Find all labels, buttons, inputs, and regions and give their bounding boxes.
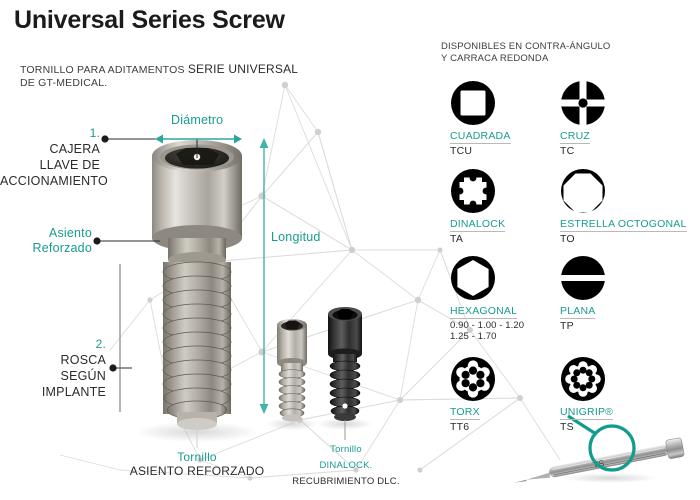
main-screw-caption: Tornillo ASIENTO REFORZADO — [122, 450, 272, 478]
driver-plana-code: TP — [560, 320, 574, 332]
leader-seat — [93, 237, 160, 244]
driver-hexagonal-name: HEXAGONAL — [450, 305, 517, 319]
callout-2-line2: SEGÚN — [61, 369, 106, 383]
main-screw-caption-dark: ASIENTO REFORZADO — [130, 464, 265, 478]
driver-torx-name: TORX — [450, 406, 480, 420]
page-title: Universal Series Screw — [14, 6, 285, 35]
callout-1-line1: CAJERA — [49, 142, 100, 156]
callout-1-number: 1. — [90, 126, 100, 140]
driver-hexagonal[interactable]: HEXAGONAL 0.90 - 1.00 - 1.20 1.25 - 1.70 — [450, 255, 560, 350]
seat-label-line2: Reforzado — [33, 241, 92, 255]
subtitle-line1-bold: SERIE UNIVERSAL — [188, 62, 298, 76]
driver-dinalock-name: DINALOCK — [450, 218, 505, 232]
callout-2-line1: ROSCA — [61, 353, 106, 367]
dinalock-caption-line3: RECUBRIMIENTO DLC. — [292, 476, 399, 487]
main-screw-caption-teal: Tornillo — [177, 450, 217, 464]
driver-cruz[interactable]: CRUZ TC — [560, 80, 665, 155]
leader-callout-2 — [109, 264, 132, 412]
length-dimension-arrow — [260, 138, 269, 414]
driver-cuadrada-name: CUADRADA — [450, 130, 511, 144]
callout-1-line2: LLAVE DE — [40, 158, 100, 172]
hexagon-socket-icon — [450, 255, 496, 301]
subtitle-line2: DE GT-MEDICAL. — [20, 77, 107, 89]
callout-1-line3: ACCIONAMIENTO — [0, 174, 108, 188]
driver-dinalock[interactable]: DINALOCK TA — [450, 168, 555, 243]
driver-hexagonal-sizes: 0.90 - 1.00 - 1.20 1.25 - 1.70 — [450, 320, 524, 342]
panel-header-line2: Y CARRACA REDONDA — [441, 53, 548, 64]
diameter-dimension-arrow — [155, 135, 242, 144]
callout-2: 2. ROSCA SEGÚN IMPLANTE — [0, 336, 106, 400]
driver-cuadrada-code: TCU — [450, 145, 472, 157]
callout-2-line3: IMPLANTE — [42, 385, 106, 399]
driver-cruz-name: CRUZ — [560, 130, 590, 144]
driver-unigrip-code: TS — [560, 421, 574, 433]
panel-header-line1: DISPONIBLES EN CONTRA-ÁNGULO — [441, 41, 610, 52]
driver-unigrip[interactable]: UNIGRIP® TS — [560, 356, 665, 431]
driver-torx[interactable]: TORX TT6 — [450, 356, 555, 431]
dinalock-caption-line1: Tornillo — [330, 444, 362, 455]
diameter-label: Diámetro — [171, 113, 223, 127]
square-socket-icon — [450, 80, 496, 126]
dinalock-caption-line2: DINALOCK. — [319, 460, 372, 471]
torx-socket-icon — [450, 356, 496, 402]
tool-marking-label: TS — [592, 458, 605, 470]
driver-cuadrada[interactable]: CUADRADA TCU — [450, 80, 555, 155]
driver-plana-name: PLANA — [560, 305, 595, 319]
driver-torx-code: TT6 — [450, 421, 469, 433]
driver-plana[interactable]: PLANA TP — [560, 255, 665, 330]
seat-label-line1: Asiento — [49, 226, 92, 240]
dinalock-socket-icon — [450, 168, 496, 214]
panel-header: DISPONIBLES EN CONTRA-ÁNGULO Y CARRACA R… — [441, 41, 610, 65]
driver-dinalock-code: TA — [450, 233, 463, 245]
poster-root: Universal Series Screw TORNILLO PARA ADI… — [0, 0, 700, 500]
driver-cruz-code: TC — [560, 145, 574, 157]
driver-unigrip-name: UNIGRIP® — [560, 406, 613, 420]
driver-estrella-octogonal[interactable]: ESTRELLA OCTOGONAL TO — [560, 168, 685, 243]
driver-estrella-code: TO — [560, 233, 575, 245]
callout-1: 1. CAJERA LLAVE DE ACCIONAMIENTO — [0, 125, 100, 189]
tool-highlight-circle — [590, 426, 634, 470]
octagon-socket-icon — [560, 168, 606, 214]
callout-2-number: 2. — [96, 337, 106, 351]
cross-socket-icon — [560, 80, 606, 126]
subtitle-line1-plain: TORNILLO PARA ADITAMENTOS — [20, 64, 185, 76]
length-label: Longitud — [271, 230, 321, 244]
leader-callout-1 — [101, 135, 197, 158]
driver-estrella-name: ESTRELLA OCTOGONAL — [560, 218, 687, 232]
seat-label: Asiento Reforzado — [0, 226, 92, 256]
flat-slot-socket-icon — [560, 255, 606, 301]
unigrip-socket-icon — [560, 356, 606, 402]
subtitle: TORNILLO PARA ADITAMENTOS SERIE UNIVERSA… — [20, 63, 298, 90]
dinalock-screw-caption: Tornillo DINALOCK. RECUBRIMIENTO DLC. — [281, 441, 411, 489]
